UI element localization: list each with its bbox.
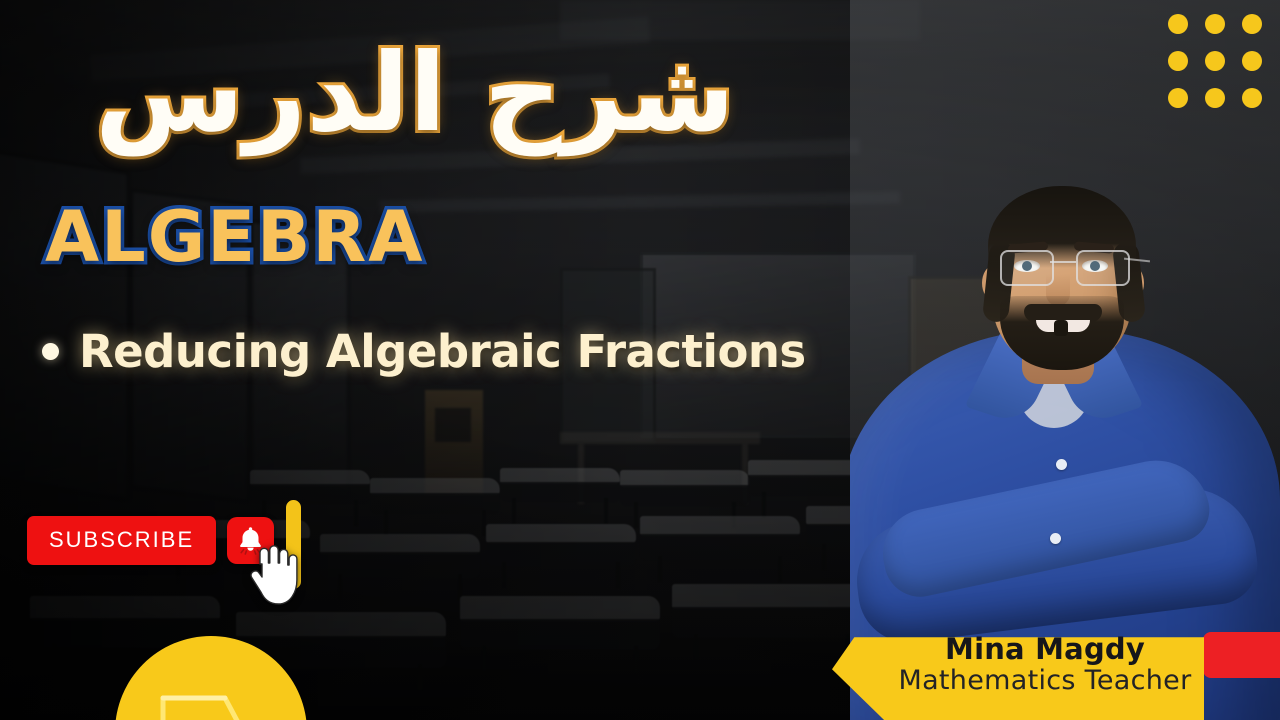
- dot: [1242, 88, 1262, 108]
- hand-cursor-icon: [246, 544, 298, 611]
- dot: [1242, 51, 1262, 71]
- subtitle-row: Reducing Algebraic Fractions: [42, 325, 806, 378]
- dot: [1205, 88, 1225, 108]
- parallelogram-arrow-icon: [155, 664, 263, 720]
- dot: [1168, 14, 1188, 34]
- subtitle-text: Reducing Algebraic Fractions: [79, 325, 806, 378]
- glasses-bridge: [1050, 261, 1076, 263]
- dot: [1168, 88, 1188, 108]
- soul-patch: [1054, 320, 1068, 336]
- presenter-role: Mathematics Teacher: [894, 665, 1196, 696]
- shirt-button: [1056, 459, 1067, 470]
- teacher-portrait: [850, 0, 1280, 720]
- subscribe-button[interactable]: SUBSCRIBE: [27, 516, 216, 565]
- banner-text-group: Mina Magdy Mathematics Teacher: [894, 634, 1196, 696]
- subscribe-cluster[interactable]: SUBSCRIBE: [27, 516, 274, 565]
- dot: [1205, 14, 1225, 34]
- presenter-name-banner: Mina Magdy Mathematics Teacher: [832, 626, 1204, 720]
- arabic-title: شرح الدرس: [0, 26, 830, 161]
- eyeglasses-icon: [998, 250, 1130, 284]
- bullet-icon: [42, 343, 59, 360]
- dot: [1242, 14, 1262, 34]
- red-corner-tab: [1203, 632, 1280, 678]
- youtube-thumbnail: شرح الدرس ALGEBRA Reducing Algebraic Fra…: [0, 0, 1280, 720]
- dot: [1205, 51, 1225, 71]
- lens-right: [1076, 250, 1130, 286]
- shirt-button: [1050, 533, 1061, 544]
- presenter-name: Mina Magdy: [894, 634, 1196, 664]
- dot-grid: [1168, 14, 1262, 108]
- topic-heading: ALGEBRA: [45, 196, 424, 278]
- dot: [1168, 51, 1188, 71]
- lens-left: [1000, 250, 1054, 286]
